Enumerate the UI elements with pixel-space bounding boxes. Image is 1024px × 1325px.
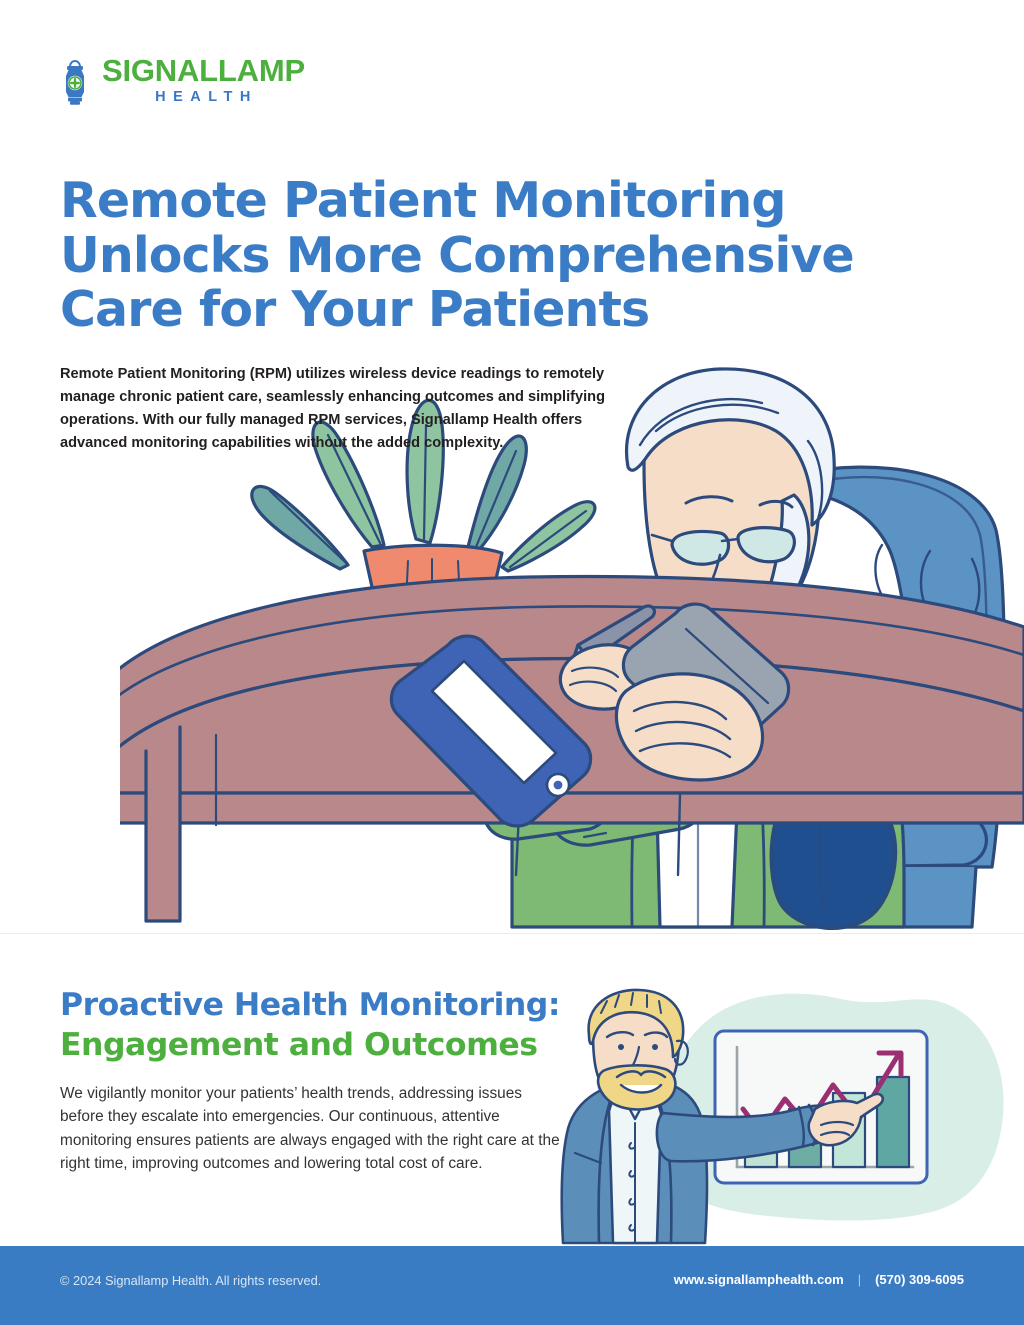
growth-chart-illustration — [545, 985, 1024, 1247]
brand-wordmark: SIGNALLAMP HEALTH — [102, 55, 305, 105]
page-title-line-2: Unlocks More Comprehensive — [60, 229, 890, 284]
section-divider — [0, 933, 1024, 934]
brand-logo[interactable]: SIGNALLAMP HEALTH — [58, 54, 305, 106]
footer-website-link[interactable]: www.signallamphealth.com — [674, 1272, 844, 1287]
section-two-title: Proactive Health Monitoring: Engagement … — [60, 985, 580, 1066]
page-title-line-3: Care for Your Patients — [60, 283, 890, 338]
section-two-title-line-1: Proactive Health Monitoring: — [60, 985, 580, 1025]
footer-contact: www.signallamphealth.com | (570) 309-609… — [674, 1272, 964, 1287]
page-footer: © 2024 Signallamp Health. All rights res… — [0, 1246, 1024, 1325]
page-root: SIGNALLAMP HEALTH — [0, 0, 1024, 1325]
chart-bar — [877, 1077, 909, 1167]
hero-paragraph: Remote Patient Monitoring (RPM) utilizes… — [60, 363, 650, 455]
section-two-paragraph: We vigilantly monitor your patients’ hea… — [60, 1082, 560, 1176]
brand-name-primary: SIGNALLAMP — [102, 55, 305, 87]
page-title-line-1: Remote Patient Monitoring — [60, 174, 890, 229]
footer-phone-link[interactable]: (570) 309-6095 — [875, 1272, 964, 1287]
section-two-title-line-2: Engagement and Outcomes — [60, 1025, 580, 1065]
lantern-icon — [58, 54, 92, 106]
footer-separator: | — [858, 1272, 861, 1287]
brand-name-secondary: HEALTH — [102, 89, 305, 105]
page-title: Remote Patient Monitoring Unlocks More C… — [60, 174, 890, 338]
footer-copyright: © 2024 Signallamp Health. All rights res… — [60, 1273, 321, 1288]
